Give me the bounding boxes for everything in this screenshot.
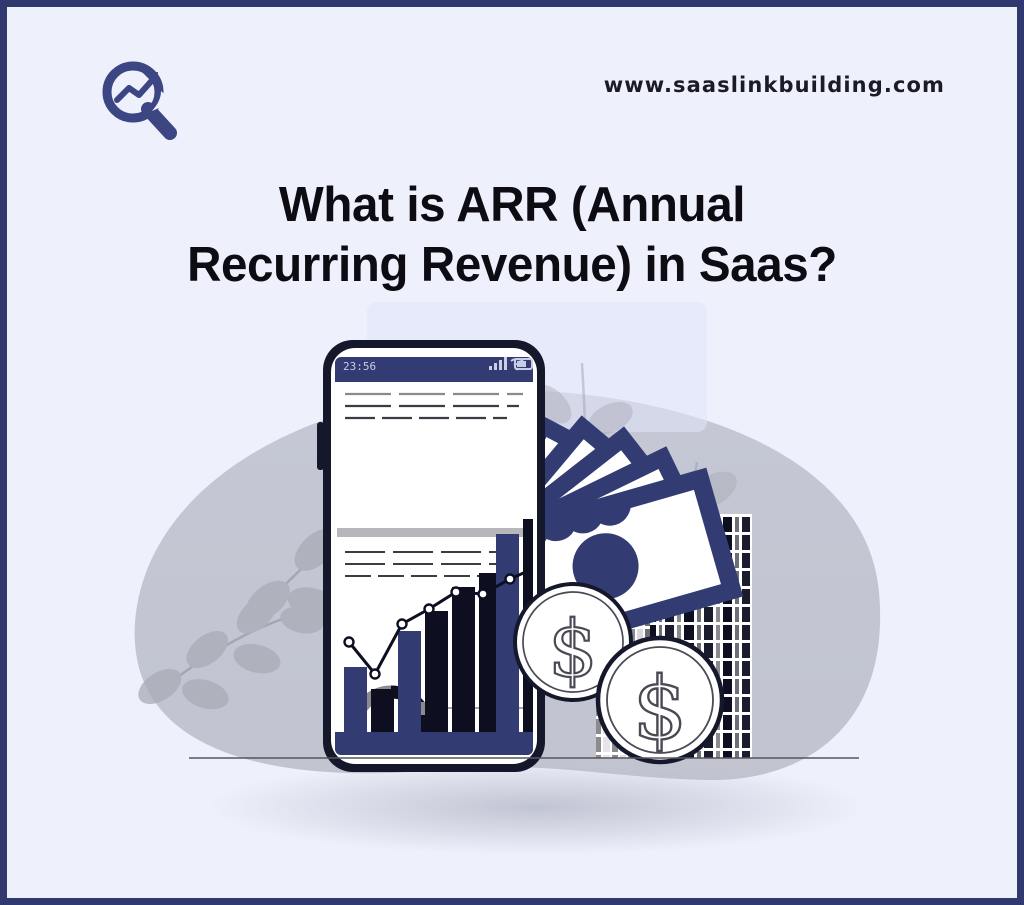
poster-canvas: www.saaslinkbuilding.com What is ARR (An… [7, 7, 1017, 898]
magnifier-growth-arrow-icon [95, 57, 185, 147]
svg-text:$: $ [633, 659, 688, 759]
poster-page: www.saaslinkbuilding.com What is ARR (An… [0, 0, 1024, 905]
smartphone-mockup[interactable]: 23:56 [317, 340, 546, 781]
brand-logo[interactable] [95, 57, 185, 147]
svg-text:$: $ [548, 605, 598, 695]
hero-illustration: 23:56 [7, 262, 1017, 898]
status-bar-time: 23:56 [343, 360, 376, 373]
phone-volume-button[interactable] [317, 422, 324, 470]
ground-shadow [207, 759, 867, 855]
dollar-coin-front: $ [598, 638, 722, 762]
site-url: www.saaslinkbuilding.com [604, 73, 945, 97]
